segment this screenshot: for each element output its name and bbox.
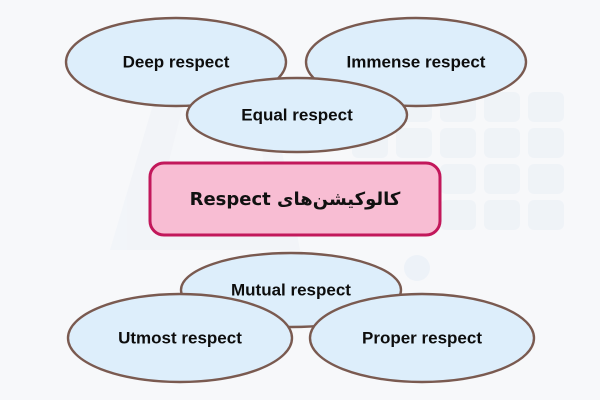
collocations-diagram: Deep respect Immense respect Equal respe… [0, 0, 600, 400]
node-label: Equal respect [241, 105, 353, 124]
node-label: Deep respect [123, 52, 230, 71]
diagram-canvas: Deep respect Immense respect Equal respe… [0, 0, 600, 400]
center-node[interactable]: کالوکیشن‌های Respect [150, 163, 440, 235]
node-label: Proper respect [362, 328, 482, 347]
node-label: Immense respect [347, 52, 486, 71]
node-equal-respect[interactable]: Equal respect [187, 78, 407, 152]
node-utmost-respect[interactable]: Utmost respect [68, 294, 292, 382]
node-proper-respect[interactable]: Proper respect [310, 294, 534, 382]
node-label: Utmost respect [118, 328, 242, 347]
center-node-label: کالوکیشن‌های Respect [190, 189, 401, 210]
node-label: Mutual respect [231, 280, 351, 299]
